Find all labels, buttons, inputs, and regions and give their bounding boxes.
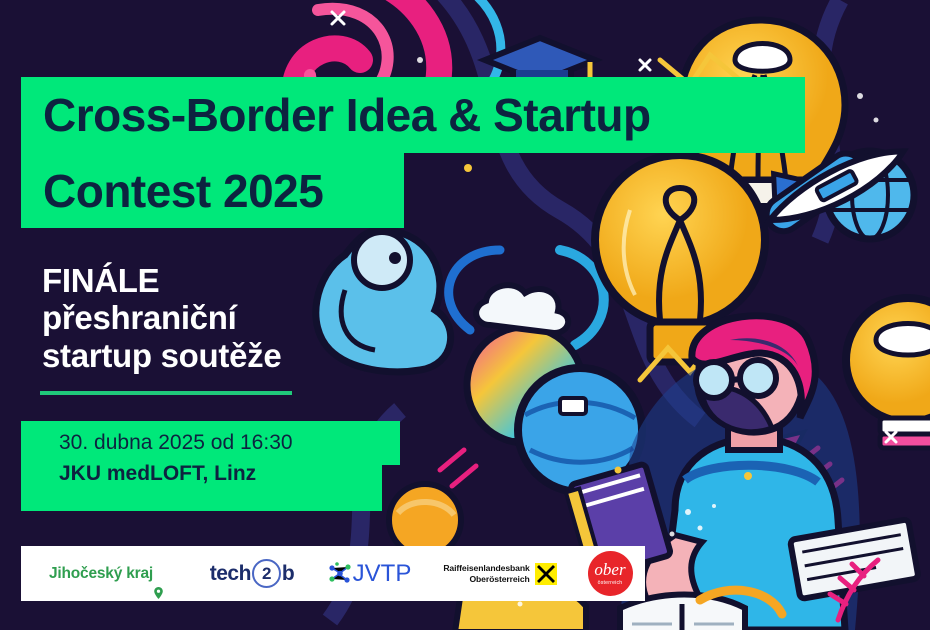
subtitle-block: FINÁLE přeshraniční startup soutěže [42,262,372,374]
logo-tech2b[interactable]: tech 2 b [191,546,313,601]
logo-ooe-text: ober [594,561,625,578]
logo-rlb-line-1: Raiffeisenlandesbank [443,563,529,574]
poster-canvas: Cross-Border Idea & Startup Contest 2025… [0,0,930,630]
title-line-1-text: Cross-Border Idea & Startup [21,92,651,138]
logo-tech2b-prefix: tech [210,562,251,586]
logo-jihocesky-kraj-text: Jihočeský kraj [49,565,153,583]
node-cluster-icon [327,561,353,587]
subtitle-line-3: startup soutěže [42,337,372,374]
subtitle-line-1: FINÁLE [42,262,372,299]
logo-rlb-line-2: Oberösterreich [443,574,529,585]
logo-jihocesky-kraj[interactable]: Jihočeský kraj [21,546,191,601]
subtitle-underline-rule [40,391,292,395]
event-details-text: 30. dubna 2025 od 16:30 JKU medLOFT, Lin… [59,427,293,489]
sponsor-logo-bar: Jihočeský kraj tech 2 b [21,546,645,601]
map-pin-icon [154,587,163,599]
logo-ooe-subtext: österreich [598,580,623,586]
event-venue: JKU medLOFT, Linz [59,459,293,489]
subtitle-line-2: přeshraniční [42,299,372,336]
title-line-1-band: Cross-Border Idea & Startup [21,77,805,153]
logo-jvtp[interactable]: JVTP [313,546,425,601]
logo-raiffeisenlandesbank[interactable]: Raiffeisenlandesbank Oberösterreich [425,546,575,601]
title-line-2-text: Contest 2025 [21,168,323,214]
event-date: 30. dubna 2025 od 16:30 [59,427,293,459]
logo-tech2b-suffix: b [282,562,294,586]
logo-oberoesterreich[interactable]: ober österreich [575,546,645,601]
gable-cross-icon [535,563,557,585]
logo-tech2b-circled-digit: 2 [252,559,281,588]
title-line-2-band: Contest 2025 [21,153,404,228]
logo-jvtp-text: JVTP [353,560,412,588]
